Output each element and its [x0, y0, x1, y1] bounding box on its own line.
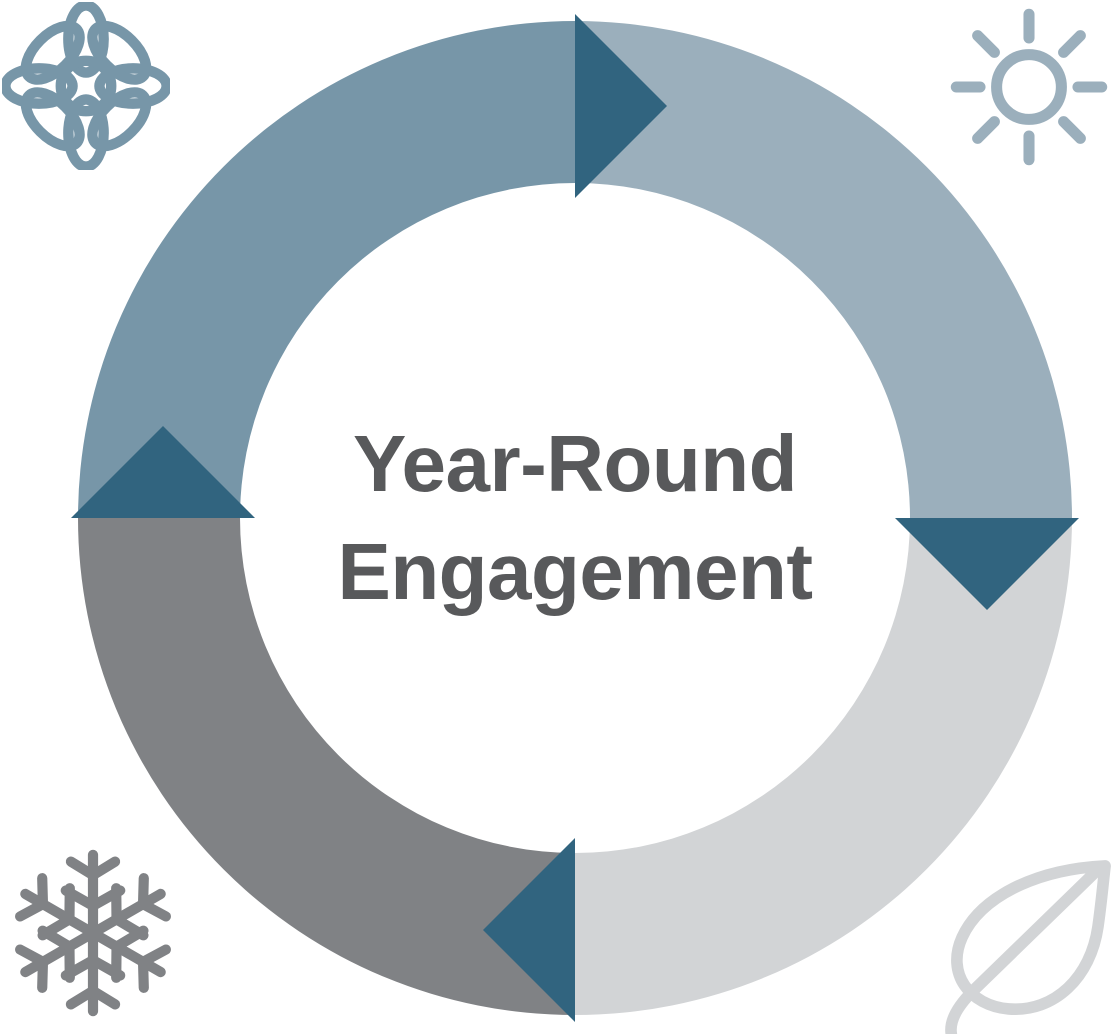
cycle-diagram-canvas: Year-Round Engagement: [0, 0, 1116, 1027]
snowflake-icon: [8, 848, 178, 1018]
sun-icon: [950, 8, 1108, 166]
leaf-icon: [940, 848, 1116, 1034]
flower-icon: [2, 2, 170, 170]
